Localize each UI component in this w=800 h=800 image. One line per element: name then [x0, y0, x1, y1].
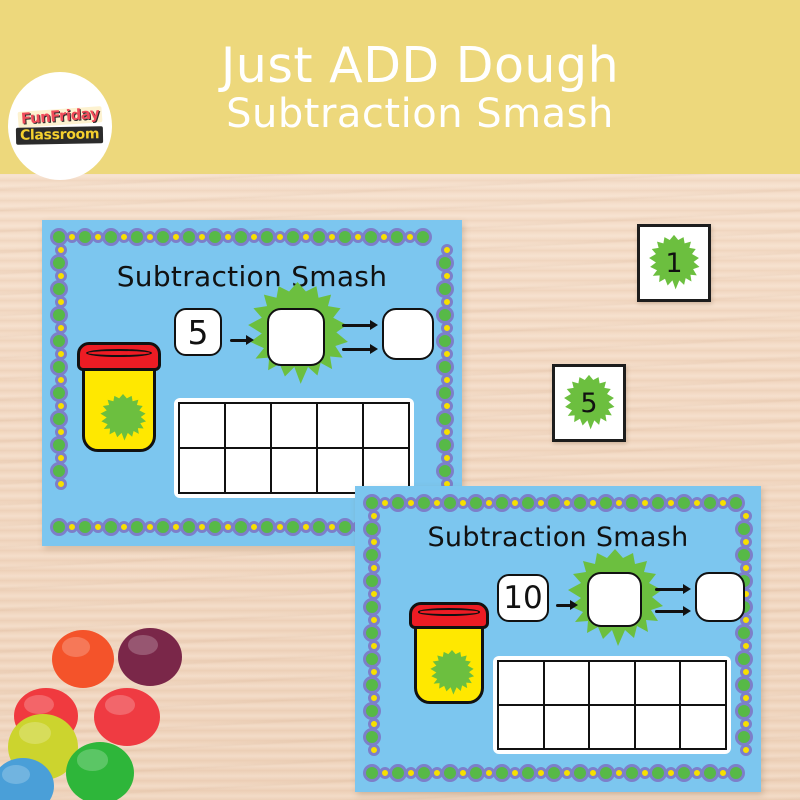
answer-input-box[interactable] — [382, 308, 434, 360]
number-tile-five[interactable]: 5 — [552, 364, 626, 442]
ten-frame-cell[interactable] — [178, 447, 226, 494]
ten-frame-cell[interactable] — [362, 402, 410, 449]
ten-frame-cell[interactable] — [270, 402, 318, 449]
difference-input-box[interactable] — [267, 308, 325, 366]
tile-value: 5 — [580, 390, 597, 417]
ten-frame-cell[interactable] — [224, 447, 272, 494]
dough-pot-icon — [409, 602, 489, 704]
ten-frame-cell[interactable] — [270, 447, 318, 494]
tile-value: 1 — [665, 250, 682, 277]
ten-frame-cell[interactable] — [634, 660, 682, 706]
card-border-top — [363, 494, 745, 512]
dough-pot-icon — [77, 342, 161, 452]
card-title: Subtraction Smash — [355, 522, 761, 553]
ten-frame-cell[interactable] — [543, 704, 591, 750]
ten-frame[interactable] — [174, 398, 414, 498]
equals-arrow-top-icon — [342, 320, 380, 330]
arrow-right-icon — [230, 335, 256, 345]
ten-frame-cell[interactable] — [588, 704, 636, 750]
subtraction-smash-card-ten[interactable]: Subtraction Smash 10 — [355, 486, 761, 792]
dough-ball-purple — [118, 628, 182, 686]
page-title: Just ADD Dough — [181, 41, 619, 90]
card-title: Subtraction Smash — [42, 260, 462, 293]
ten-frame-cell[interactable] — [178, 402, 226, 449]
dough-ball-green — [66, 742, 134, 800]
ten-frame-cell[interactable] — [316, 402, 364, 449]
ten-frame-cell[interactable] — [497, 660, 545, 706]
brand-logo-line2: Classroom — [16, 126, 103, 144]
minuend-box: 10 — [497, 574, 549, 622]
ten-frame-cell[interactable] — [679, 660, 727, 706]
ten-frame-cell[interactable] — [679, 704, 727, 750]
page-subtitle: Subtraction Smash — [186, 94, 614, 134]
equals-arrow-bottom-icon — [655, 606, 693, 616]
dough-ball-orange — [52, 630, 114, 688]
card-border-top — [50, 228, 432, 246]
number-tile-one[interactable]: 1 — [637, 224, 711, 302]
difference-input-box[interactable] — [587, 572, 642, 627]
header-banner: Just ADD Dough Subtraction Smash — [0, 0, 800, 174]
answer-input-box[interactable] — [695, 572, 745, 622]
poster-canvas: Subtraction Smash 5 — [0, 0, 800, 800]
ten-frame-cell[interactable] — [588, 660, 636, 706]
card-border-bottom — [363, 764, 745, 782]
ten-frame-cell[interactable] — [543, 660, 591, 706]
ten-frame-cell[interactable] — [497, 704, 545, 750]
arrow-right-icon — [556, 600, 580, 610]
equals-arrow-bottom-icon — [342, 344, 380, 354]
minuend-box: 5 — [174, 308, 222, 356]
dough-ball-red-right — [94, 688, 160, 746]
equals-arrow-top-icon — [655, 584, 693, 594]
brand-logo[interactable]: FunFriday Classroom — [8, 72, 112, 180]
ten-frame[interactable] — [493, 656, 731, 754]
ten-frame-cell[interactable] — [224, 402, 272, 449]
brand-logo-line1: FunFriday — [17, 106, 102, 128]
ten-frame-cell[interactable] — [634, 704, 682, 750]
